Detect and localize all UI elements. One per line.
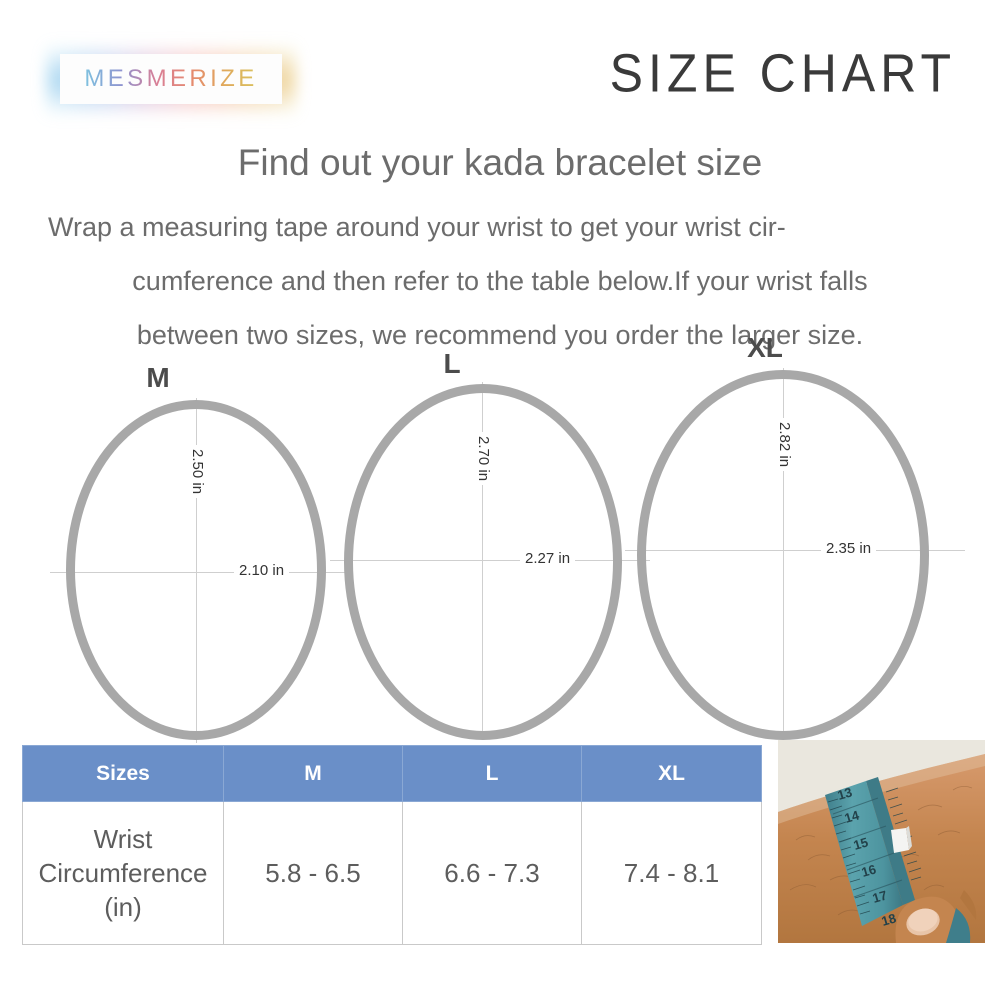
row-label-line-2: Circumference [38,858,207,888]
diagram-xl: XL 2.82 in 2.35 in [625,330,965,740]
intro-line-2: cumference and then refer to the table b… [48,254,952,308]
diagram-xl-height-label: 2.82 in [776,418,793,471]
diagram-l-width-label: 2.27 in [520,550,575,567]
diagram-xl-label: XL [595,332,935,364]
diagram-m-label: M [8,362,308,394]
bracelet-diagrams: M 2.50 in 2.10 in L 2.70 in 2.27 in XL 2… [0,340,1000,740]
diagram-l-label: L [292,348,612,380]
cell-wrist-m: 5.8 - 6.5 [224,802,403,945]
brand-logo: MESMERIZE [46,38,296,122]
table-header-xl: XL [582,746,762,802]
row-label-line-1: Wrist [94,824,153,854]
diagram-m-height-label: 2.50 in [189,445,206,498]
row-label-wrist-circumference: Wrist Circumference (in) [23,802,224,945]
cell-wrist-l: 6.6 - 7.3 [403,802,582,945]
section-heading: Find out your kada bracelet size [0,142,1000,184]
cell-wrist-xl: 7.4 - 8.1 [582,802,762,945]
wrist-photo-illustration: 13 14 15 16 17 18 [778,740,985,943]
wrist-measurement-photo: 13 14 15 16 17 18 [778,740,985,943]
table-body: Wrist Circumference (in) 5.8 - 6.5 6.6 -… [23,802,762,945]
logo-text: MESMERIZE [84,65,257,93]
diagram-l: L 2.70 in 2.27 in [330,340,650,740]
table-header: Sizes M L XL [23,746,762,802]
diagram-l-height-label: 2.70 in [475,432,492,485]
diagram-m: M 2.50 in 2.10 in [50,350,350,740]
logo-card: MESMERIZE [60,54,282,104]
diagram-m-width-label: 2.10 in [234,562,289,579]
table-header-sizes: Sizes [23,746,224,802]
size-chart-page: MESMERIZE SIZE CHART Find out your kada … [0,0,1000,1000]
row-label-line-3: (in) [104,892,142,922]
size-table: Sizes M L XL Wrist Circumference (in) 5.… [22,745,762,945]
table-header-row: Sizes M L XL [23,746,762,802]
page-title: SIZE CHART [610,42,956,105]
diagram-xl-width-label: 2.35 in [821,540,876,557]
table-header-m: M [224,746,403,802]
table-header-l: L [403,746,582,802]
intro-line-1: Wrap a measuring tape around your wrist … [48,200,952,254]
table-row: Wrist Circumference (in) 5.8 - 6.5 6.6 -… [23,802,762,945]
